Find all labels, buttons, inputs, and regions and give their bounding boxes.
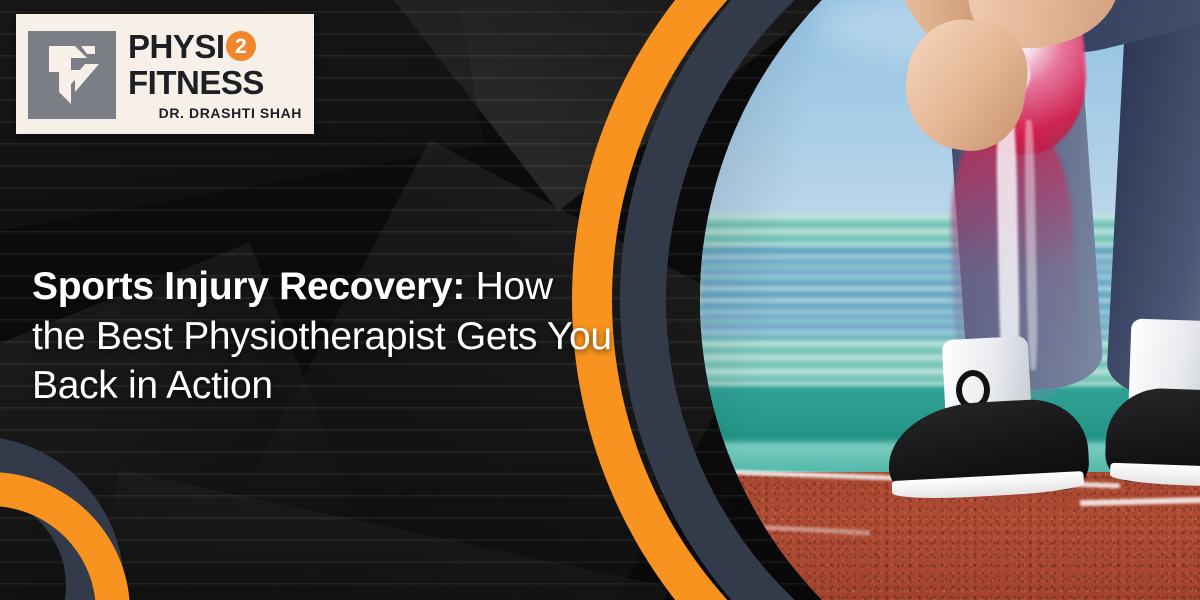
photo-edge-shadow: [700, 0, 1200, 600]
brand-logo-text: PHYSI 2 FITNESS DR. DRASHTI SHAH: [128, 30, 302, 121]
brand-logo-line-1: PHYSI 2: [128, 30, 302, 63]
brand-logo[interactable]: PHYSI 2 FITNESS DR. DRASHTI SHAH: [16, 14, 314, 134]
pf-monogram-icon: [28, 31, 116, 119]
headline-strong: Sports Injury Recovery:: [32, 265, 465, 308]
brand-logo-physi: PHYSI: [128, 30, 225, 63]
page-title: Sports Injury Recovery: How the Best Phy…: [32, 262, 612, 411]
brand-logo-subtitle: DR. DRASHTI SHAH: [128, 105, 302, 121]
brand-logo-two-badge: 2: [226, 31, 256, 61]
blog-banner: PHYSI 2 FITNESS DR. DRASHTI SHAH Sports …: [0, 0, 1200, 600]
hero-photo: [700, 0, 1200, 600]
brand-logo-fitness: FITNESS: [128, 66, 302, 99]
hero-photo-scene: [700, 0, 1200, 600]
